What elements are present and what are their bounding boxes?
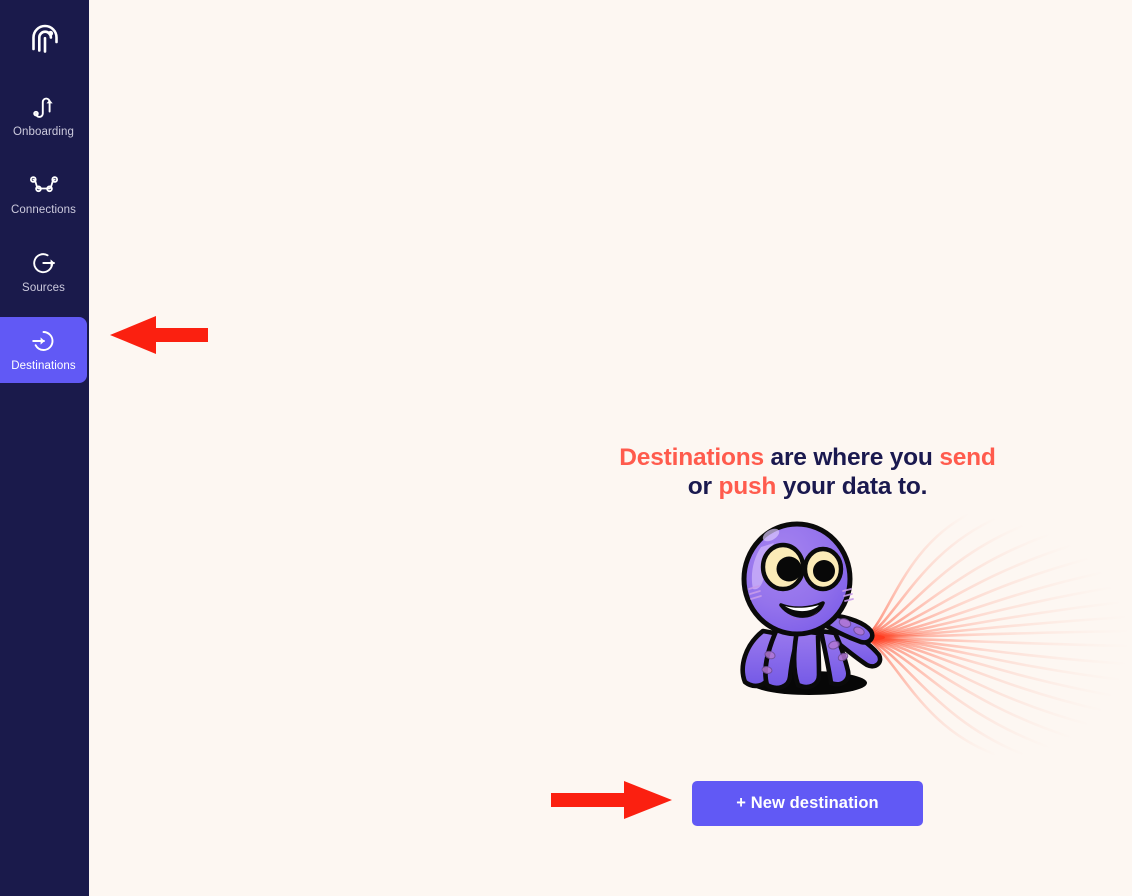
destinations-empty-state: Destinations are where you send or push … [89, 0, 1132, 896]
sidebar-item-onboarding[interactable]: Onboarding [0, 83, 87, 149]
sidebar-item-connections[interactable]: Connections [0, 161, 87, 227]
onboarding-icon [31, 94, 57, 120]
headline-text-1: are where you [764, 444, 939, 471]
sidebar-item-sources[interactable]: Sources [0, 239, 87, 305]
destinations-icon [30, 328, 57, 354]
cta-wrapper: + New destination [692, 781, 923, 826]
connections-icon [29, 172, 59, 198]
sidebar-item-label: Connections [11, 204, 76, 217]
app-root: Onboarding [0, 0, 1132, 896]
sidebar: Onboarding [0, 0, 89, 896]
headline-word-send: send [939, 444, 995, 471]
headline-word-destinations: Destinations [619, 444, 764, 471]
headline-text-or: or [688, 473, 719, 500]
main-content: Destinations are where you send or push … [89, 0, 1132, 896]
headline-word-push: push [718, 473, 776, 500]
page-title: Destinations are where you send or push … [89, 443, 1132, 501]
sources-icon [30, 250, 57, 276]
sidebar-nav: Onboarding [0, 83, 89, 395]
sidebar-item-label: Destinations [11, 360, 75, 373]
octopus-mascot-illustration [719, 505, 1132, 755]
new-destination-button[interactable]: + New destination [692, 781, 923, 826]
sidebar-item-destinations[interactable]: Destinations [0, 317, 87, 383]
sidebar-item-label: Onboarding [13, 126, 74, 139]
airbyte-logo[interactable] [0, 0, 89, 73]
headline-text-2: your data to. [776, 473, 927, 500]
sidebar-item-label: Sources [22, 282, 65, 295]
